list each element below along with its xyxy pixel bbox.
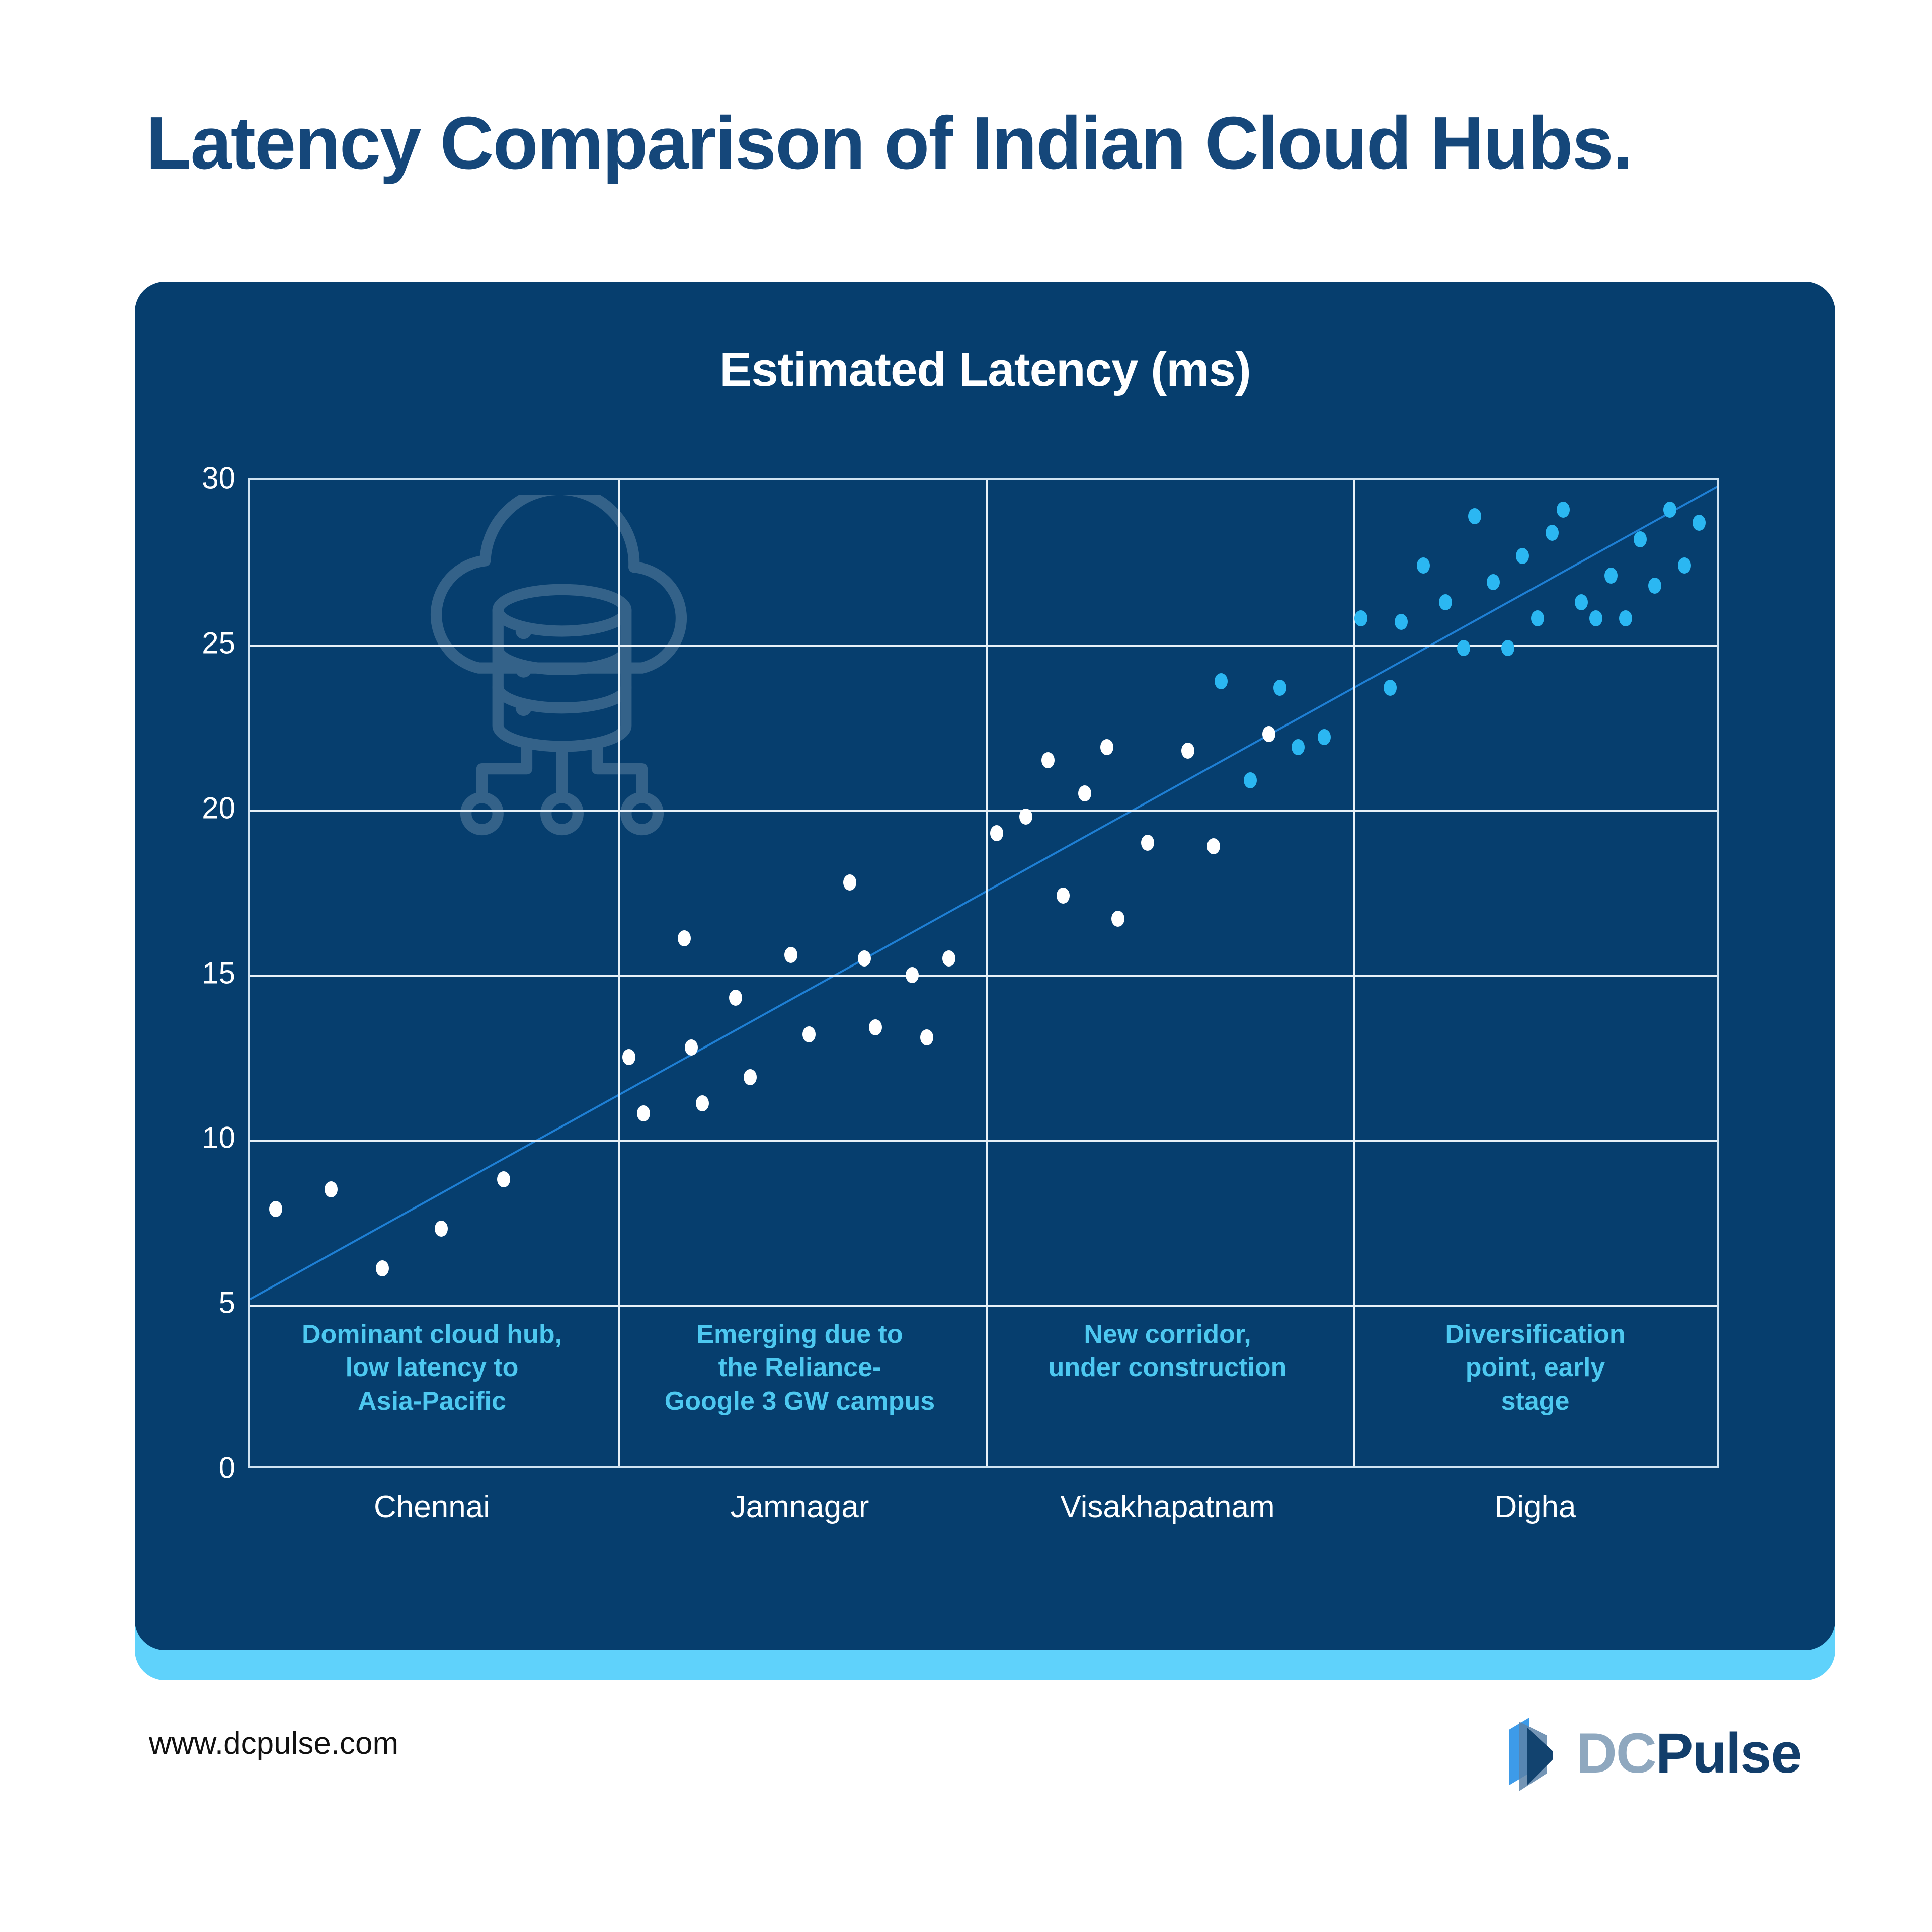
scatter-point — [802, 1026, 816, 1042]
scatter-point — [1648, 578, 1661, 594]
panel-annotation: Dominant cloud hub, low latency to Asia-… — [263, 1318, 601, 1418]
scatter-point — [1457, 640, 1470, 656]
scatter-point — [942, 950, 955, 967]
gridline-horizontal — [250, 975, 1717, 977]
x-axis-tick-label: Chennai — [374, 1489, 490, 1525]
scatter-point — [1634, 531, 1647, 547]
scatter-point — [920, 1029, 933, 1045]
scatter-point — [1468, 508, 1481, 524]
scatter-point — [906, 967, 919, 983]
scatter-point — [1078, 785, 1091, 801]
scatter-point — [1273, 680, 1286, 696]
scatter-point — [1487, 574, 1500, 590]
panel-divider — [1353, 480, 1355, 1466]
panel-divider — [618, 480, 620, 1466]
scatter-point — [729, 990, 742, 1006]
scatter-point — [1501, 640, 1514, 656]
scatter-point — [1041, 752, 1055, 768]
panel-annotation: Diversification point, early stage — [1366, 1318, 1704, 1418]
scatter-point — [1019, 809, 1032, 825]
scatter-point — [1575, 594, 1588, 610]
page-title: Latency Comparison of Indian Cloud Hubs. — [146, 101, 1632, 186]
dcpulse-logo: DCPulse — [1507, 1711, 1801, 1796]
scatter-point — [1693, 515, 1706, 531]
y-axis-tick-label: 10 — [155, 1120, 235, 1155]
scatter-point — [1395, 614, 1408, 630]
scatter-point — [269, 1201, 282, 1217]
scatter-point — [1207, 838, 1220, 854]
website-url[interactable]: www.dcpulse.com — [149, 1726, 398, 1761]
scatter-point — [1215, 673, 1228, 689]
panel-divider — [986, 480, 988, 1466]
dcpulse-mark-icon — [1507, 1716, 1571, 1791]
infographic-page: Latency Comparison of Indian Cloud Hubs.… — [0, 0, 1932, 1932]
gridline-horizontal — [250, 1140, 1717, 1142]
scatter-point — [843, 874, 856, 891]
cloud-database-icon — [401, 495, 723, 847]
scatter-point — [1604, 568, 1618, 584]
y-axis-tick-label: 30 — [155, 461, 235, 496]
scatter-point — [325, 1181, 338, 1197]
scatter-point — [622, 1049, 635, 1065]
scatter-point — [1100, 739, 1113, 755]
scatter-point — [1546, 525, 1559, 541]
scatter-point — [869, 1019, 882, 1035]
scatter-point — [1417, 557, 1430, 574]
scatter-point — [990, 825, 1003, 841]
x-axis-tick-label: Visakhapatnam — [1060, 1489, 1274, 1525]
y-axis-tick-label: 0 — [155, 1451, 235, 1485]
scatter-point — [1141, 835, 1154, 851]
x-axis-tick-label: Digha — [1495, 1489, 1576, 1525]
gridline-horizontal — [250, 810, 1717, 812]
scatter-point — [784, 947, 797, 963]
chart-card: Estimated Latency (ms) 051015202530 — [135, 282, 1835, 1650]
scatter-point — [1678, 557, 1691, 574]
scatter-point — [1589, 610, 1602, 626]
scatter-point — [376, 1260, 389, 1276]
panel-annotation: Emerging due to the Reliance- Google 3 G… — [631, 1318, 969, 1418]
scatter-point — [744, 1069, 757, 1085]
scatter-point — [1057, 888, 1070, 904]
scatter-point — [435, 1221, 448, 1237]
scatter-point — [1557, 502, 1570, 518]
scatter-point — [1619, 610, 1632, 626]
y-axis-tick-label: 20 — [155, 790, 235, 825]
gridline-horizontal — [250, 645, 1717, 647]
scatter-point — [685, 1039, 698, 1056]
scatter-point — [1439, 594, 1452, 610]
scatter-point — [637, 1105, 650, 1121]
logo-text-pulse: Pulse — [1656, 1722, 1801, 1785]
y-axis-tick-label: 5 — [155, 1285, 235, 1320]
scatter-point — [497, 1171, 510, 1187]
scatter-point — [1318, 729, 1331, 745]
scatter-point — [1111, 911, 1124, 927]
gridline-horizontal — [250, 1305, 1717, 1307]
scatter-point — [1354, 610, 1367, 626]
x-axis-tick-label: Jamnagar — [731, 1489, 869, 1525]
y-axis-tick-label: 25 — [155, 625, 235, 660]
scatter-point — [858, 950, 871, 967]
scatter-point — [678, 930, 691, 946]
scatter-point — [1531, 610, 1544, 626]
logo-text-dc: DC — [1576, 1722, 1656, 1785]
scatter-point — [696, 1095, 709, 1111]
scatter-point — [1663, 502, 1676, 518]
scatter-point — [1262, 726, 1275, 742]
scatter-point — [1516, 548, 1529, 564]
scatter-point — [1244, 772, 1257, 788]
scatter-point — [1292, 739, 1305, 755]
y-axis-tick-label: 15 — [155, 955, 235, 990]
scatter-point — [1384, 680, 1397, 696]
panel-annotation: New corridor, under construction — [999, 1318, 1336, 1385]
scatter-point — [1181, 743, 1194, 759]
